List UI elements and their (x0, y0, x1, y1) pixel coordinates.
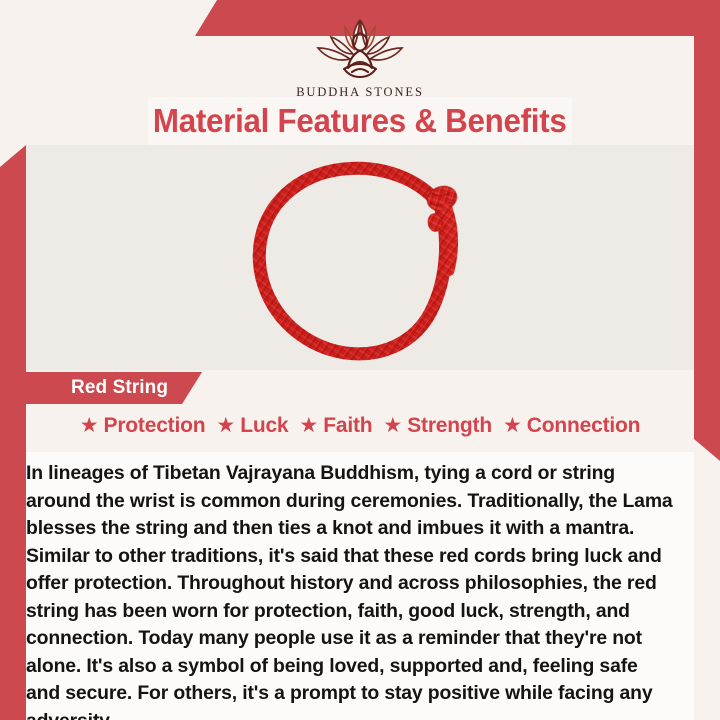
benefit-label: Protection (104, 414, 206, 438)
title-band: Material Features & Benefits (148, 97, 572, 145)
infographic-root: BUDDHA STONES Material Features & Benefi… (0, 0, 720, 720)
star-icon: ★ (216, 415, 235, 436)
benefit-item-strength: ★ Strength (383, 414, 492, 438)
description-panel: In lineages of Tibetan Vajrayana Buddhis… (26, 452, 694, 720)
star-icon: ★ (383, 415, 402, 436)
decor-bar-left (0, 145, 26, 690)
red-string-bracelet-graphic (235, 150, 485, 365)
benefit-label: Strength (407, 414, 492, 438)
star-icon: ★ (80, 415, 99, 436)
lotus-meditation-icon (304, 12, 416, 84)
brand-logo: BUDDHA STONES (0, 12, 720, 100)
product-image (26, 145, 694, 370)
page-title: Material Features & Benefits (153, 102, 567, 140)
benefit-label: Faith (323, 414, 372, 438)
benefit-item-luck: ★ Luck (216, 414, 288, 438)
benefit-item-protection: ★ Protection (80, 414, 206, 438)
benefits-row: ★ Protection ★ Luck ★ Faith ★ Strength ★… (26, 414, 694, 438)
benefit-item-faith: ★ Faith (299, 414, 372, 438)
benefit-item-connection: ★ Connection (503, 414, 640, 438)
description-text: In lineages of Tibetan Vajrayana Buddhis… (26, 460, 674, 720)
star-icon: ★ (299, 415, 318, 436)
benefit-label: Connection (527, 414, 641, 438)
product-name-label: Red String (71, 377, 168, 399)
star-icon: ★ (503, 415, 522, 436)
product-name-ribbon: Red String (26, 372, 202, 404)
benefit-label: Luck (240, 414, 288, 438)
